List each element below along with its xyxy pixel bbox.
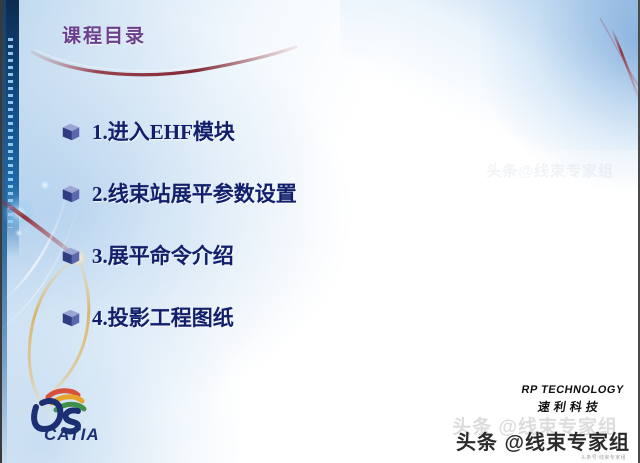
agenda-list: 1.进入EHF模块 2.线束站展平参数设置 3.展平命令介绍 xyxy=(60,100,480,348)
list-item[interactable]: 3.展平命令介绍 xyxy=(60,224,480,286)
slide-title-block: 课程目录 xyxy=(62,24,362,70)
left-glow-orb-small xyxy=(38,178,52,192)
cube-bullet-icon xyxy=(60,183,82,205)
list-item-label: 2.线束站展平参数设置 xyxy=(92,178,297,208)
cube-bullet-icon xyxy=(60,307,82,329)
left-glow-orb-tiny xyxy=(14,228,24,238)
slide-frame-left xyxy=(0,0,2,463)
left-glow-orb xyxy=(2,196,36,230)
catia-logo: CATIA xyxy=(18,385,114,451)
list-item[interactable]: 4.投影工程图纸 xyxy=(60,286,480,348)
cube-bullet-icon xyxy=(60,121,82,143)
rp-technology-logo: RP TECHNOLOGY 速利科技 xyxy=(517,384,624,415)
rp-logo-english: RP TECHNOLOGY xyxy=(520,384,624,396)
list-item-label: 3.展平命令介绍 xyxy=(92,240,234,270)
slide-title: 课程目录 xyxy=(62,24,362,50)
watermark-main: 头条 @线束专家组 xyxy=(456,426,630,455)
list-item-label: 1.进入EHF模块 xyxy=(92,116,235,146)
presentation-slide: 课程目录 1.进入EHF模块 2.线束站展平参数设置 xyxy=(0,0,640,463)
list-item[interactable]: 2.线束站展平参数设置 xyxy=(60,162,480,224)
cube-bullet-icon xyxy=(60,245,82,267)
catia-wordmark: CATIA xyxy=(44,425,100,445)
list-item[interactable]: 1.进入EHF模块 xyxy=(60,100,480,162)
list-item-label: 4.投影工程图纸 xyxy=(92,302,234,332)
watermark-faint: 头条@线束专家组 xyxy=(486,160,614,181)
watermark-tiny: 头条号:线束专家组 xyxy=(581,454,626,461)
